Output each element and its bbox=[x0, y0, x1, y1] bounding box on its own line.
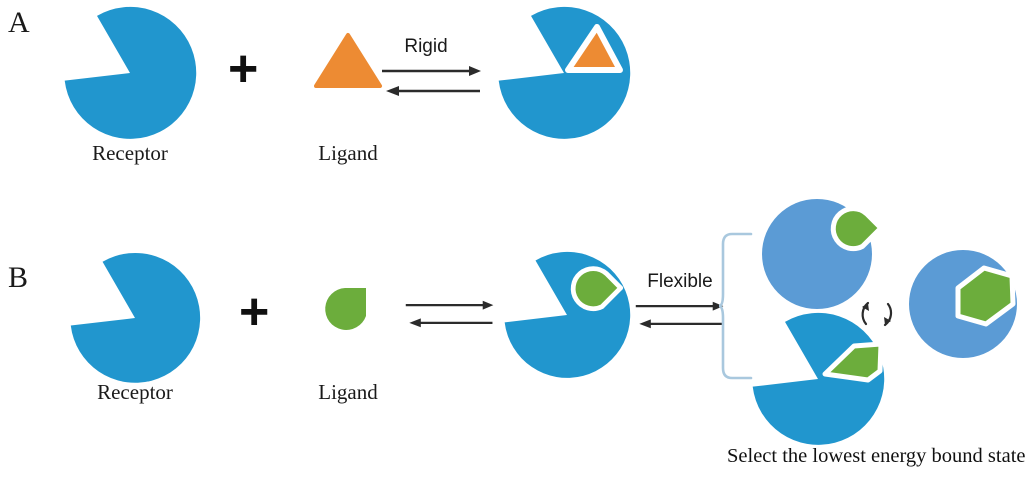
panel-a-complex-shape bbox=[498, 12, 630, 134]
ensemble-brace bbox=[718, 232, 752, 380]
ensemble-state-bottom bbox=[752, 318, 884, 440]
panel-letter-a: A bbox=[8, 8, 30, 38]
panel-b-ligand-shape bbox=[321, 283, 373, 335]
panel-a-equilibrium-arrows bbox=[380, 62, 484, 100]
panel-b-plus-symbol: + bbox=[239, 286, 269, 338]
panel-a-receptor-label: Receptor bbox=[30, 143, 230, 164]
binding-mechanism-figure: A Receptor + Ligand Rigid B bbox=[0, 0, 1025, 477]
panel-letter-b: B bbox=[8, 263, 28, 293]
panel-b-ligand-label: Ligand bbox=[250, 382, 446, 403]
ensemble-state-right bbox=[908, 248, 1025, 360]
panel-b-equilibrium-arrows-1 bbox=[404, 295, 496, 333]
panel-a-arrow-label: Rigid bbox=[366, 37, 486, 56]
ensemble-caption: Select the lowest energy bound state bbox=[727, 446, 1025, 467]
panel-a-receptor-shape bbox=[64, 12, 196, 134]
panel-b-equilibrium-arrows-2 bbox=[634, 296, 726, 334]
panel-b-complex-shape bbox=[504, 256, 630, 374]
rotation-cycle-icon bbox=[855, 292, 899, 336]
panel-a-plus-symbol: + bbox=[228, 43, 258, 95]
panel-a-ligand-label: Ligand bbox=[248, 143, 448, 164]
panel-b-receptor-label: Receptor bbox=[35, 382, 235, 403]
panel-b-receptor-shape bbox=[70, 258, 200, 378]
